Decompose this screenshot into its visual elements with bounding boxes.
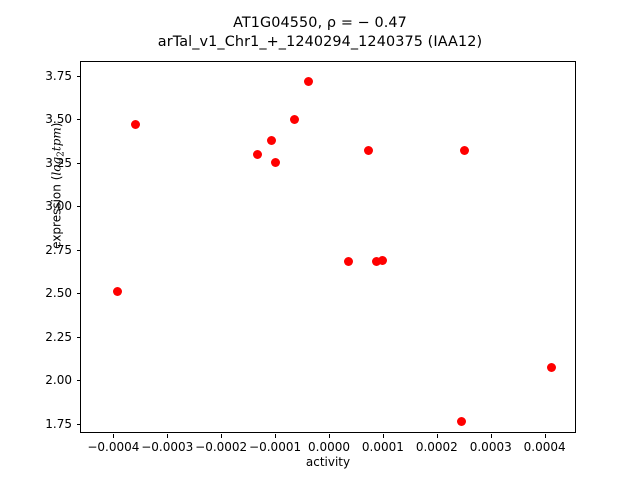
chart-title-block: AT1G04550, ρ = − 0.47 arTal_v1_Chr1_+_12… — [0, 14, 640, 52]
y-tick-mark — [77, 380, 81, 381]
x-tick-label: −0.0002 — [195, 440, 247, 454]
x-tick-label: −0.0004 — [87, 440, 139, 454]
y-tick-mark — [77, 250, 81, 251]
y-tick-mark — [77, 119, 81, 120]
y-axis-label-math-base: log — [49, 157, 63, 176]
x-tick-mark — [275, 434, 276, 438]
data-point — [304, 77, 313, 86]
x-tick-label: 0.0003 — [470, 440, 512, 454]
y-tick-mark — [77, 337, 81, 338]
x-tick-mark — [545, 434, 546, 438]
y-tick-mark — [77, 293, 81, 294]
data-point — [344, 257, 353, 266]
x-tick-mark — [113, 434, 114, 438]
chart-title-line-2: arTal_v1_Chr1_+_1240294_1240375 (IAA12) — [0, 33, 640, 52]
x-tick-mark — [383, 434, 384, 438]
data-point — [460, 146, 469, 155]
data-point — [364, 146, 373, 155]
x-tick-label: −0.0003 — [141, 440, 193, 454]
x-tick-mark — [221, 434, 222, 438]
x-tick-label: −0.0001 — [249, 440, 301, 454]
y-tick-mark — [77, 206, 81, 207]
data-point — [113, 287, 122, 296]
y-axis-label-suffix: ) — [49, 123, 63, 128]
data-point — [253, 150, 262, 159]
y-axis-label-math-unit: tpm — [49, 127, 63, 151]
x-tick-mark — [491, 434, 492, 438]
y-tick-label: 2.00 — [45, 373, 72, 387]
y-axis-label-prefix: expression ( — [49, 176, 63, 249]
y-tick-mark — [77, 163, 81, 164]
x-tick-label: 0.0002 — [416, 440, 458, 454]
data-point — [547, 363, 556, 372]
x-tick-label: 0.0000 — [308, 440, 350, 454]
x-tick-mark — [329, 434, 330, 438]
data-point — [457, 417, 466, 426]
data-point — [131, 120, 140, 129]
x-tick-mark — [437, 434, 438, 438]
data-point — [290, 115, 299, 124]
y-tick-label: 1.75 — [45, 417, 72, 431]
y-axis-label-math-sub: 2 — [57, 151, 67, 157]
data-point — [267, 136, 276, 145]
y-tick-mark — [77, 76, 81, 77]
data-point — [271, 158, 280, 167]
x-tick-mark — [167, 434, 168, 438]
y-tick-mark — [77, 424, 81, 425]
chart-title-line-1: AT1G04550, ρ = − 0.47 — [0, 14, 640, 33]
scatter-plot-figure: AT1G04550, ρ = − 0.47 arTal_v1_Chr1_+_12… — [0, 0, 640, 480]
x-tick-label: 0.0001 — [362, 440, 404, 454]
plot-axes: −0.0004−0.0003−0.0002−0.00010.00000.0001… — [80, 61, 576, 433]
x-axis-label: activity — [80, 455, 576, 469]
plot-data-area — [81, 62, 575, 432]
data-point — [378, 256, 387, 265]
x-tick-label: 0.0004 — [524, 440, 566, 454]
y-axis-label: expression (log2tpm) — [49, 36, 66, 336]
